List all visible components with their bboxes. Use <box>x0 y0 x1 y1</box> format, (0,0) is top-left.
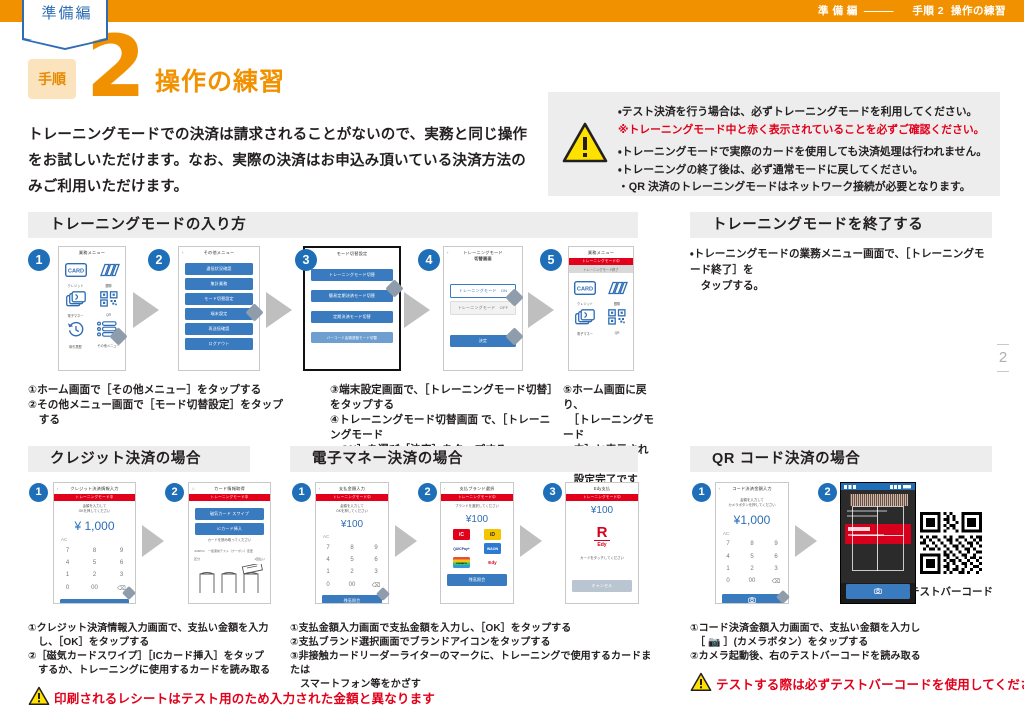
emoney2-note: ブランドを選択してください <box>441 504 513 509</box>
emoney1-title: 支払金額入力 <box>316 483 388 492</box>
section-header-enter-label: トレーニングモードの入り方 <box>28 212 638 238</box>
section-header-enter: トレーニングモードの入り方 <box>28 212 638 238</box>
page-number: 2 <box>992 340 1014 376</box>
phone2-button-4: 再送信確認 <box>185 323 253 335</box>
warning-line-5: ・QR 決済のトレーニングモードはネットワーク接続が必要となります。 <box>618 179 992 197</box>
emoney-cards-icon-5 <box>575 309 595 330</box>
credit1-title: クレジット決済情報入力 <box>54 483 135 492</box>
phone2-title: その他メニュー <box>179 247 259 256</box>
unionpay-icon-5 <box>606 281 628 300</box>
key: 3 <box>108 569 135 581</box>
phone5-icon-label-1: 銀聯 <box>606 301 628 306</box>
emoney3-note: カードをタッチしてください <box>566 556 638 561</box>
credit2-note: カードを読み取ってください <box>189 538 270 543</box>
brand-waon-icon: WAON <box>484 543 501 554</box>
key: 00 <box>740 575 764 588</box>
breadcrumb-title: 操作の練習 <box>951 5 1006 17</box>
breadcrumb-section: 準 備 編 <box>818 5 858 17</box>
section-tab-label: 準備編 <box>24 2 110 23</box>
key: 6 <box>364 554 388 566</box>
step-circle-2: 2 <box>148 249 170 271</box>
phone3-button-3: バーコード金額連動モード切替 <box>311 332 393 343</box>
emoney3-brand-label: Edy <box>566 542 638 548</box>
brand-edy-icon: Edy <box>484 557 501 568</box>
phone2-button-3: 端末設定 <box>185 308 253 320</box>
phone-mock-emoney-3: Edy支払 トレーニングモード中 ¥100 R Edy カードをタッチしてくださ… <box>565 482 639 604</box>
phone5-red-banner: トレーニングモード中 <box>569 258 633 265</box>
phone5-grey-banner: トレーニングモード終了 <box>569 265 633 272</box>
test-barcode-image <box>920 512 982 579</box>
credit1-ok-button: OK <box>60 599 129 604</box>
section-header-exit: トレーニングモードを終了する <box>690 212 992 238</box>
flow-arrow-qr <box>795 525 817 562</box>
key: 5 <box>340 554 364 566</box>
credit2-row1: JCB/CC 一括通常テスト（クーポン）変更 <box>194 549 265 553</box>
emoney1-balance-button: 残高照会 <box>322 595 382 604</box>
phone3-button-2: 定期決済モード切替 <box>311 311 393 323</box>
warning-line-1: ・テスト決済を行う場合は、必ずトレーニングモードを利用してください。 <box>618 104 992 122</box>
credit2-red-banner: トレーニングモード中 <box>189 494 270 501</box>
credit-card-icon-5: CARD <box>574 281 596 300</box>
section-header-emoney: 電子マネー決済の場合 <box>290 446 638 472</box>
key: 2 <box>81 569 108 581</box>
breadcrumb-step: 手順 2 <box>912 5 944 17</box>
section-header-emoney-label: 電子マネー決済の場合 <box>290 446 638 472</box>
card-reader-illustration-icon <box>197 564 265 599</box>
warning-line-3: ・トレーニングモードで実際のカードを使用しても決済処理は行われません。 <box>618 144 992 162</box>
emoney1-keypad: 7 8 9 4 5 6 1 2 3 0 00 ⌫ <box>316 541 388 592</box>
phone2-button-0: 通信状況確認 <box>185 263 253 275</box>
key: 0 <box>54 582 81 595</box>
emoney-step-circle-2: 2 <box>418 483 437 502</box>
brand-ic-icon: iC <box>453 529 470 540</box>
key: 9 <box>364 541 388 553</box>
breadcrumb: 準 備 編———手順 2 操作の練習 <box>818 3 1006 18</box>
phone1-icon-label-0: クレジット <box>65 283 87 288</box>
section-header-credit-label: クレジット決済の場合 <box>28 446 250 472</box>
section-tab-point <box>22 38 108 52</box>
caption-enter-left: ①ホーム画面で［その他メニュー］をタップする ②その他メニュー画面で［モード切替… <box>28 383 328 428</box>
svg-text:CARD: CARD <box>577 286 593 292</box>
credit1-red-banner: トレーニングモード中 <box>54 494 135 501</box>
test-barcode-label: テストバーコード <box>898 584 1004 599</box>
warning-triangle-icon-qr <box>690 672 712 697</box>
edy-logo-icon: R <box>594 525 611 541</box>
credit1-amount: ¥ 1,000 <box>54 519 135 533</box>
breadcrumb-separator: ——— <box>858 5 899 17</box>
intro-paragraph: トレーニングモードでの決済は請求されることがないので、実務と同じ操作をお試しいた… <box>28 122 528 200</box>
qr-icon-5 <box>608 309 626 330</box>
phone-mock-step1: 業務メニュー CARD クレジット 銀聯 電子マネー QR <box>58 246 126 371</box>
emoney1-amount: ¥100 <box>316 519 388 530</box>
credit2-button-swipe: 磁気カード スワイプ <box>195 508 264 520</box>
key: 5 <box>740 550 764 562</box>
emoney1-red-banner: トレーニングモード中 <box>316 494 388 501</box>
home-icon-c2: ⌂ <box>192 486 195 491</box>
phone1-title: 業務メニュー <box>59 247 125 256</box>
flow-arrow-credit <box>142 525 164 562</box>
history-clock-icon <box>67 321 85 343</box>
key: 00 <box>81 582 108 595</box>
step-chip-label: 手順 <box>28 59 76 99</box>
credit-alert: 印刷されるレシートはテスト用のため入力された金額と異なります <box>28 686 50 711</box>
credit-step-circle-2: 2 <box>165 483 184 502</box>
key: 9 <box>108 544 135 556</box>
credit1-note: 金額を入力して OKを押してください <box>54 504 135 514</box>
flow-arrow-1 <box>133 292 159 333</box>
phone2-button-5: ログアウト <box>185 338 253 350</box>
emoney2-amount: ¥100 <box>441 514 513 525</box>
step-circle-3: 3 <box>295 249 317 271</box>
caption-qr: ①コード決済金額入力画面で、支払い金額を入力し ［ 📷 ］(カメラボタン）をタッ… <box>690 622 1020 664</box>
warning-triangle-icon <box>562 122 608 169</box>
exit-instruction: ・トレーニングモードの業務メニュー画面で、［トレーニングモード終了］を タップす… <box>690 246 995 294</box>
warning-line-4: ・トレーニングの終了後は、必ず通常モードに戻してください。 <box>618 162 992 180</box>
emoney2-red-banner: トレーニングモード中 <box>441 494 513 501</box>
emoney-step-circle-3: 3 <box>543 483 562 502</box>
key: 4 <box>716 550 740 562</box>
key: 3 <box>764 563 788 575</box>
phone3-button-1: 簡易定期決済モード切替 <box>311 290 393 302</box>
emoney3-amount: ¥100 <box>566 505 638 516</box>
qr1-title: コード決済金額入力 <box>716 483 788 492</box>
back-chevron-icon-e2: ‹ <box>444 486 446 491</box>
phone2-button-2: モード切替設定 <box>185 293 253 305</box>
phone-mock-step4: ‹ トレーニングモード 切替画面 トレーニングモード ON トレーニングモード … <box>443 246 523 371</box>
key: 4 <box>54 557 81 569</box>
key: 6 <box>108 557 135 569</box>
qr-alert: テストする際は必ずテストバーコードを使用してください <box>690 672 712 697</box>
brand-nanaco-icon: nanaco <box>453 557 470 568</box>
caption-enter-right: ⑤ホーム画面に戻り、 ［トレーニングモード 中］と表示されたら 設定完了です <box>563 383 658 488</box>
phone4-subtitle: 切替画面 <box>444 256 522 262</box>
step-circle-5: 5 <box>540 249 562 271</box>
qr-step-circle-1: 1 <box>692 483 711 502</box>
key: 4 <box>316 554 340 566</box>
phone-mock-step3: ‹ モード切替設定 トレーニングモード切替 簡易定期決済モード切替 定期決済モー… <box>303 246 401 371</box>
emoney3-title: Edy支払 <box>566 483 638 492</box>
emoney-step-circle-1: 1 <box>292 483 311 502</box>
flow-arrow-emoney-2 <box>520 525 542 562</box>
svg-text:CARD: CARD <box>67 269 83 275</box>
emoney1-note: 金額を入力して OKを押してください <box>316 504 388 514</box>
flow-arrow-2 <box>266 292 292 333</box>
left-spine-white-overlay <box>0 22 12 726</box>
back-chevron-icon-e1: ‹ <box>319 486 321 491</box>
emoney3-cancel-button: キャンセル <box>572 580 632 592</box>
emoney2-brand-grid: iC iD QUICPay+ WAON nanaco Edy <box>441 529 513 568</box>
phone-mock-credit-1: ‹ クレジット決済情報入力 トレーニングモード中 金額を入力して OKを押してく… <box>53 482 136 604</box>
key: 3 <box>364 566 388 578</box>
phone1-icon-label-2: 電子マネー <box>66 313 86 318</box>
section-header-qr: QR コード決済の場合 <box>690 446 992 472</box>
key: 7 <box>54 544 81 556</box>
step-circle-4: 4 <box>418 249 440 271</box>
qr1-note: 金額を入力して カメラボタンを押してください <box>716 498 788 508</box>
key: 5 <box>81 557 108 569</box>
phone1-icon-label-4: 取引履歴 <box>67 344 85 349</box>
phone4-option-off: トレーニングモード OFF <box>450 301 516 315</box>
qr1-amount: ¥1,000 <box>716 513 788 527</box>
caption-credit: ①クレジット決済情報入力画面で、支払い金額を入力 し、［OK］をタップする ②［… <box>28 622 318 678</box>
step-chip: 手順 <box>28 59 76 99</box>
key-backspace: ⌫ <box>764 575 788 588</box>
qr-alert-text: テストする際は必ずテストバーコードを使用してください <box>716 674 1024 693</box>
emoney2-balance-button: 残高照会 <box>447 574 507 586</box>
key: 2 <box>340 566 364 578</box>
phone5-icon-label-0: クレジット <box>574 301 596 306</box>
credit-step-circle-1: 1 <box>29 483 48 502</box>
phone1-icon-label-3: QR <box>100 313 118 317</box>
key: 7 <box>716 538 740 550</box>
qr-step-circle-2: 2 <box>818 483 837 502</box>
warning-line-2: ※トレーニングモード中と赤く表示されていることを必ずご確認ください。 <box>618 122 992 140</box>
back-chevron-icon-4: ‹ <box>447 250 449 255</box>
section-header-exit-label: トレーニングモードを終了する <box>690 212 992 238</box>
emoney3-red-banner: トレーニングモード中 <box>566 494 638 501</box>
key: 1 <box>716 563 740 575</box>
key: 1 <box>54 569 81 581</box>
credit2-row2-left: 区分 <box>194 557 200 561</box>
page-number-value: 2 <box>999 349 1007 366</box>
qr1-keypad: 7 8 9 4 5 6 1 2 3 0 00 ⌫ <box>716 538 788 589</box>
key: 6 <box>764 550 788 562</box>
phone5-icon-label-2: 電子マネー <box>575 331 595 336</box>
key: 8 <box>81 544 108 556</box>
emoney1-ac: AC <box>323 534 388 539</box>
phone-mock-credit-2: ⌂ カード情報取得 トレーニングモード中 磁気カード スワイプ ICカード挿入 … <box>188 482 271 604</box>
qr-icon <box>100 291 118 312</box>
section-tab: 準備編 <box>22 0 108 40</box>
unionpay-icon <box>98 263 120 282</box>
emoney2-title: 支払ブランド選択 <box>441 483 513 492</box>
key: 8 <box>740 538 764 550</box>
phone2-button-1: 集計業務 <box>185 278 253 290</box>
phone-mock-qr-1: ‹ コード決済金額入力 金額を入力して カメラボタンを押してください ¥1,00… <box>715 482 789 604</box>
credit1-ac: AC <box>61 537 135 542</box>
credit2-title: カード情報取得 <box>189 483 270 492</box>
step-circle-1: 1 <box>28 249 50 271</box>
key: 1 <box>316 566 340 578</box>
section-header-credit: クレジット決済の場合 <box>28 446 250 472</box>
brand-quicpay-icon: QUICPay+ <box>453 543 470 554</box>
qr1-camera-button <box>722 594 782 605</box>
phone1-icon-label-1: 銀聯 <box>98 283 120 288</box>
emoney-cards-icon <box>66 291 86 312</box>
key: 8 <box>340 541 364 553</box>
flow-arrow-4 <box>528 292 554 333</box>
credit2-button-ic: ICカード挿入 <box>195 523 264 535</box>
qr2-camera-preview <box>841 490 915 583</box>
phone5-icon-label-3: QR <box>608 331 626 335</box>
phone3-button-0: トレーニングモード切替 <box>311 269 393 281</box>
flow-arrow-3 <box>404 292 430 333</box>
key: 0 <box>716 575 740 588</box>
phone-mock-step5: 業務メニュー トレーニングモード中 トレーニングモード終了 CARD クレジット… <box>568 246 634 371</box>
phone3-title: モード切替設定 <box>305 248 399 257</box>
key: 00 <box>340 579 364 592</box>
brand-id-icon: iD <box>484 529 501 540</box>
phone5-title: 業務メニュー <box>569 247 633 256</box>
credit2-row2-right: 1回払い <box>254 557 265 561</box>
back-chevron-icon-c1: ‹ <box>57 486 59 491</box>
section-header-qr-label: QR コード決済の場合 <box>690 446 992 472</box>
phone-mock-emoney-2: ‹ 支払ブランド選択 トレーニングモード中 ブランドを選択してください ¥100… <box>440 482 514 604</box>
warning-triangle-icon-credit <box>28 686 50 711</box>
qr2-status-bar <box>841 483 915 490</box>
phone-mock-emoney-1: ‹ 支払金額入力 トレーニングモード中 金額を入力して OKを押してください ¥… <box>315 482 389 604</box>
phone4-title: トレーニングモード <box>444 247 522 256</box>
key: 7 <box>316 541 340 553</box>
credit1-keypad: 7 8 9 4 5 6 1 2 3 0 00 ⌫ <box>54 544 135 595</box>
page-title: 操作の練習 <box>155 62 285 98</box>
qr1-ac: AC <box>723 531 788 536</box>
back-chevron-icon-q1: ‹ <box>719 486 721 491</box>
caption-emoney: ①支払金額入力画面で支払金額を入力し、［OK］をタップする ②支払ブランド選択画… <box>290 622 660 692</box>
key: 9 <box>764 538 788 550</box>
key: 2 <box>740 563 764 575</box>
warning-box: ・テスト決済を行う場合は、必ずトレーニングモードを利用してください。 ※トレーニ… <box>548 92 1000 196</box>
credit-card-icon: CARD <box>65 263 87 282</box>
key: 0 <box>316 579 340 592</box>
back-chevron-icon: ‹ <box>182 250 184 255</box>
flow-arrow-emoney-1 <box>395 525 417 562</box>
warning-list: ・テスト決済を行う場合は、必ずトレーニングモードを利用してください。 ※トレーニ… <box>618 104 992 197</box>
